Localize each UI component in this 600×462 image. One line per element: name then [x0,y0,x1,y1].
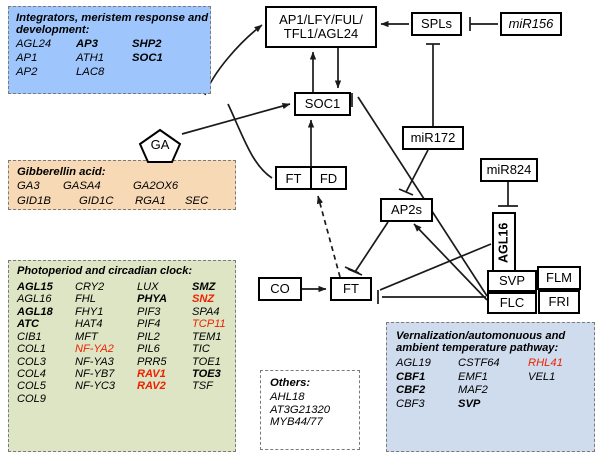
gene-label [192,393,244,405]
gene-label: SPA4 [192,306,244,318]
node-flm[interactable]: FLM [537,266,581,290]
gene-label: GA2OX6 [133,180,213,193]
node-agl16[interactable]: AGL16 [492,212,516,274]
node-ap1-lfy-ful-tfl1-agl24[interactable]: AP1/LFY/FUL/ TFL1/AGL24 [265,6,377,48]
gene-label: SOC1 [132,52,192,65]
edge-ap2s-ft-cap [348,269,362,275]
panel-gibberellin-title: Gibberellin acid: [17,166,235,178]
gene-label: GASA4 [63,180,133,193]
gene-label: GA3 [17,180,63,193]
edge-ft-cap-top [345,267,359,273]
edge-integrators-ap1 [205,25,262,95]
gene-label: MAF2 [458,384,528,397]
gene-label: SMZ [192,281,244,293]
gene-label: NF-YC3 [75,380,137,392]
node-flc[interactable]: FLC [487,292,537,314]
gene-label: NF-YA2 [75,343,137,355]
gene-label: TIC [192,343,244,355]
gene-label [75,393,137,405]
panel-others-genes: AHL18AT3G21320MYB44/77 [270,391,359,429]
panel-integrators-title: Integrators, meristem response and devel… [16,12,210,36]
gene-label: AGL24 [16,38,76,51]
gene-label: CBF3 [396,398,458,411]
gene-label: TSF [192,380,244,392]
gene-label: ATC [17,318,75,330]
node-spls[interactable]: SPLs [411,12,462,36]
gene-label: AGL19 [396,357,458,370]
gene-label: ATH1 [76,52,132,65]
gene-label: FHL [75,293,137,305]
node-ap2s[interactable]: AP2s [380,198,433,222]
panel-gibberellin: Gibberellin acid: GA3GASA4GA2OX6 GID1BGI… [8,160,236,210]
gene-label: COL9 [17,393,75,405]
panel-photoperiod-genes: AGL15CRY2LUXSMZAGL16FHLPHYASNZAGL18FHY1P… [17,281,235,405]
panel-photoperiod-title: Photoperiod and circadian clock: [17,266,235,278]
node-fd-right[interactable]: FD [310,168,345,188]
gene-label: PIL2 [137,331,192,343]
gene-label: AT3G21320 [270,404,359,417]
edge-ap2s-ft [355,222,388,272]
gene-label: TOE1 [192,356,244,368]
gene-label: SHP2 [132,38,192,51]
panel-gibberellin-row2: GID1BGID1CRGA1SEC [17,195,235,208]
gene-label: RAV1 [137,368,192,380]
gene-label: SNZ [192,293,244,305]
gene-label: MYB44/77 [270,416,359,429]
gene-label: LUX [137,281,192,293]
gene-label: GID1B [17,195,79,208]
gene-label: COL5 [17,380,75,392]
gene-label: FHY1 [75,306,137,318]
edge-agl16-ft [380,244,491,290]
gene-label: GID1C [79,195,135,208]
gene-label: NF-YA3 [75,356,137,368]
node-soc1[interactable]: SOC1 [294,92,351,116]
gene-label: SVP [458,398,528,411]
node-ft[interactable]: FT [330,277,372,301]
edge-ft-ftfd-dashed [318,196,340,277]
gene-label: AP2 [16,66,76,79]
gene-label: AP3 [76,38,132,51]
gene-label [528,398,586,411]
node-ap1-line1: AP1/LFY/FUL/ [279,13,363,27]
panel-gibberellin-row1: GA3GASA4GA2OX6 [17,180,235,193]
gene-label [528,384,586,397]
node-ap1-line2: TFL1/AGL24 [284,27,358,41]
panel-integrators-genes: AGL24AP3SHP2AP1ATH1SOC1AP2LAC8 [16,38,210,78]
gene-label: AHL18 [270,391,359,404]
edge-mir172-ap2s [406,150,428,192]
gene-label: PHYA [137,293,192,305]
node-co[interactable]: CO [258,277,302,301]
gene-label: PRR5 [137,356,192,368]
gene-label: LAC8 [76,66,132,79]
gene-label: NF-YB7 [75,368,137,380]
gene-label: AGL18 [17,306,75,318]
gene-label: CSTF64 [458,357,528,370]
gene-label [132,66,192,79]
gene-label: PIF4 [137,318,192,330]
gene-label: CBF2 [396,384,458,397]
gene-label: COL4 [17,368,75,380]
panel-others-title: Others: [270,377,359,389]
gene-label: RHL41 [528,357,586,370]
panel-integrators: Integrators, meristem response and devel… [8,6,211,94]
gene-label: AGL15 [17,281,75,293]
node-fri[interactable]: FRI [538,290,580,314]
node-svp[interactable]: SVP [487,270,537,292]
gene-label: TEM1 [192,331,244,343]
node-mir156[interactable]: miR156 [500,12,562,36]
gene-label: RGA1 [135,195,185,208]
panel-vernalization-title: Vernalization/automonuous and ambient te… [396,330,594,354]
gene-label: SEC [185,195,225,208]
node-ft-fd-complex[interactable]: FT FD [275,166,347,190]
gene-label: TCP11 [192,318,244,330]
edge-mir172-ap2s-cap [399,189,413,195]
node-ft-left[interactable]: FT [277,168,310,188]
gene-label: CIB1 [17,331,75,343]
node-mir824[interactable]: miR824 [480,158,538,182]
gene-label: RAV2 [137,380,192,392]
pathway-diagram-canvas: Integrators, meristem response and devel… [0,0,600,462]
node-mir172[interactable]: miR172 [402,126,464,150]
gene-label: PIL6 [137,343,192,355]
panel-vernalization: Vernalization/automonuous and ambient te… [386,322,595,452]
gene-label: COL3 [17,356,75,368]
gene-label: CRY2 [75,281,137,293]
node-ga-label: GA [138,137,182,152]
gene-label: VEL1 [528,371,586,384]
gene-label: CBF1 [396,371,458,384]
panel-vernalization-genes: AGL19CSTF64RHL41CBF1EMF1VEL1CBF2MAF2CBF3… [396,357,594,410]
gene-label: TOE3 [192,368,244,380]
gene-label: PIF3 [137,306,192,318]
panel-photoperiod: Photoperiod and circadian clock: AGL15CR… [8,260,236,452]
gene-label [137,393,192,405]
panel-others: Others: AHL18AT3G21320MYB44/77 [260,370,360,450]
edge-flc-ap2s [414,224,487,300]
node-ga-pentagon[interactable]: GA [138,128,182,164]
gene-label: AP1 [16,52,76,65]
gene-label: AGL16 [17,293,75,305]
gene-label: HAT4 [75,318,137,330]
gene-label: EMF1 [458,371,528,384]
edge-ga-soc1 [182,104,290,134]
gene-label: MFT [75,331,137,343]
gene-label: COL1 [17,343,75,355]
